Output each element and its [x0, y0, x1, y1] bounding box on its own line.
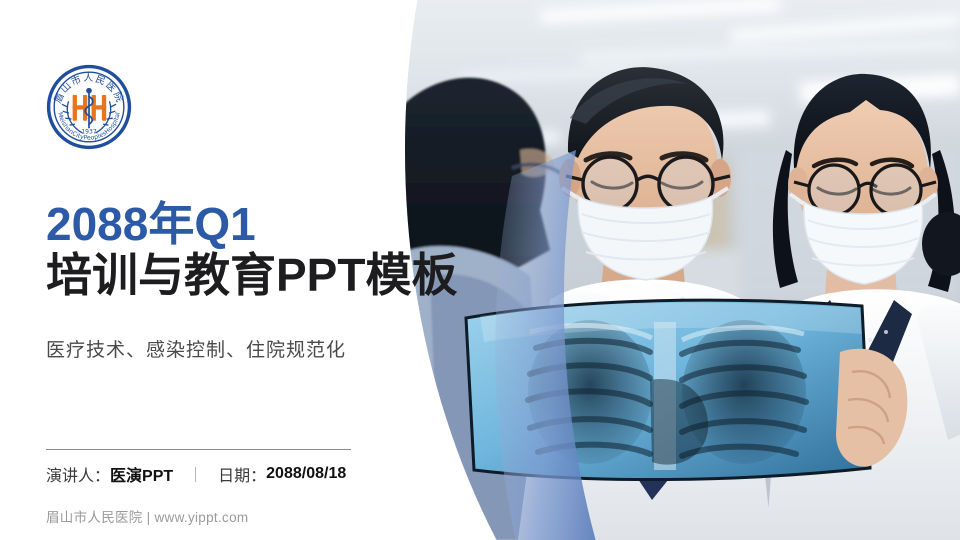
date-value: 2088/08/18 [266, 465, 346, 483]
chest-xray-film [466, 300, 907, 479]
presenter-meta: 演讲人： 医演PPT 日期： 2088/08/18 [46, 462, 346, 486]
logo-year: 1937 [81, 129, 96, 136]
date-label: 日期： [218, 462, 266, 486]
hospital-logo: 眉山市人民医院 MeishanCityPeoplesHospital [46, 64, 132, 150]
page-title: 2088年Q1 培训与教育PPT模板 [46, 200, 457, 301]
speaker-value: 医演PPT [110, 462, 173, 486]
title-line-1: 2088年Q1 [46, 200, 457, 250]
hospital-emblem-icon: 眉山市人民医院 MeishanCityPeoplesHospital [46, 64, 132, 150]
title-line-2: 培训与教育PPT模板 [46, 250, 457, 302]
presentation-title-slide: 眉山市人民医院 MeishanCityPeoplesHospital [0, 0, 960, 540]
footer-credit: 眉山市人民医院 | www.yippt.com [46, 506, 248, 526]
speaker-label: 演讲人： [46, 462, 110, 486]
meta-divider [46, 449, 351, 450]
subtitle: 医疗技术、感染控制、住院规范化 [46, 335, 346, 362]
two-doctors-reviewing-chest-xray-image [400, 0, 960, 540]
meta-separator [195, 467, 196, 482]
hero-photo-panel [400, 0, 960, 540]
